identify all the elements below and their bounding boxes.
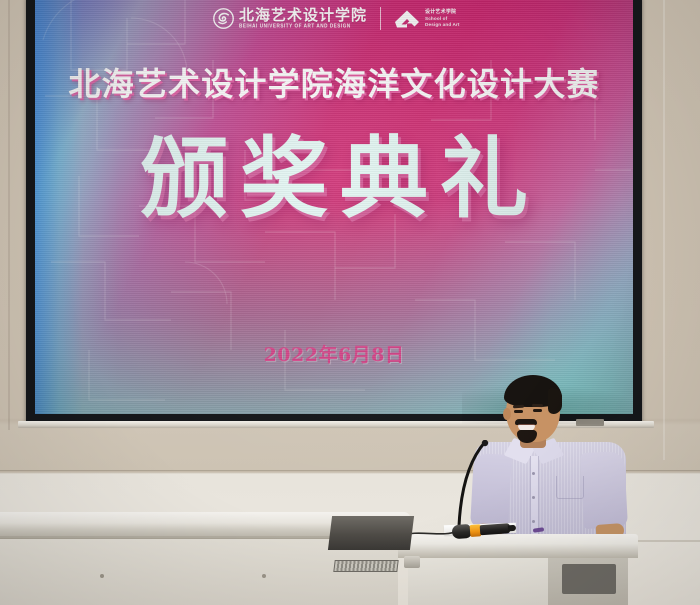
school-logo-cn: 设计艺术学院 — [425, 9, 460, 15]
shirt-button — [532, 520, 535, 523]
shirt-button — [532, 472, 535, 475]
microphone-body — [480, 523, 511, 535]
wall-vertical-seam-right — [663, 0, 665, 460]
equipment-slot — [328, 516, 414, 550]
shirt-pocket — [556, 476, 584, 499]
projection-screen-frame: 北海艺术设计学院 BEIHAI UNIVERSITY OF ART AND DE… — [26, 0, 642, 422]
shirt-button — [532, 496, 535, 499]
speaker-hair-side — [548, 388, 562, 414]
speaker-sleeve-right — [580, 451, 628, 529]
lectern — [398, 534, 638, 605]
slide-headline: 颁奖典礼 — [35, 132, 633, 224]
gooseneck-microphone — [455, 440, 491, 532]
school-logo-en-line1: School of — [425, 16, 460, 22]
microphone-head — [452, 524, 472, 539]
spiral-wave-logo-icon — [213, 8, 234, 29]
speaker-eyebrow-right — [532, 404, 543, 407]
slide-content: 北海艺术设计学院 BEIHAI UNIVERSITY OF ART AND DE… — [35, 0, 633, 414]
slide-date: 2022年6月8日 — [35, 340, 633, 367]
wall-vertical-seam-left — [8, 0, 10, 430]
logo-divider — [380, 7, 381, 30]
speaker-ear — [503, 408, 511, 420]
design-school-chevron-icon — [394, 9, 420, 29]
university-logo-cn: 北海艺术设计学院 — [239, 8, 367, 23]
university-logo: 北海艺术设计学院 BEIHAI UNIVERSITY OF ART AND DE… — [213, 8, 367, 29]
projection-screen: 北海艺术设计学院 BEIHAI UNIVERSITY OF ART AND DE… — [35, 0, 633, 414]
equipment-connector-panel — [333, 560, 398, 572]
speaker — [470, 372, 630, 542]
lectern-recess — [562, 564, 616, 594]
presentation-photo-scene: 北海艺术设计学院 BEIHAI UNIVERSITY OF ART AND DE… — [0, 0, 700, 605]
speaker-eye-right — [533, 409, 542, 412]
desk-screw — [100, 574, 104, 578]
slide-title: 北海艺术设计学院海洋文化设计大赛 — [35, 68, 633, 100]
school-logo: 设计艺术学院 School of Design and Art — [394, 9, 460, 29]
university-logo-en: BEIHAI UNIVERSITY OF ART AND DESIGN — [239, 24, 367, 29]
desk-screw — [262, 574, 266, 578]
school-logo-en-line2: Design and Art — [425, 22, 460, 28]
slide-logo-bar: 北海艺术设计学院 BEIHAI UNIVERSITY OF ART AND DE… — [213, 7, 460, 30]
equipment-knob — [404, 556, 420, 568]
microphone-tail — [508, 525, 516, 532]
speaker-eye-left — [514, 410, 523, 413]
